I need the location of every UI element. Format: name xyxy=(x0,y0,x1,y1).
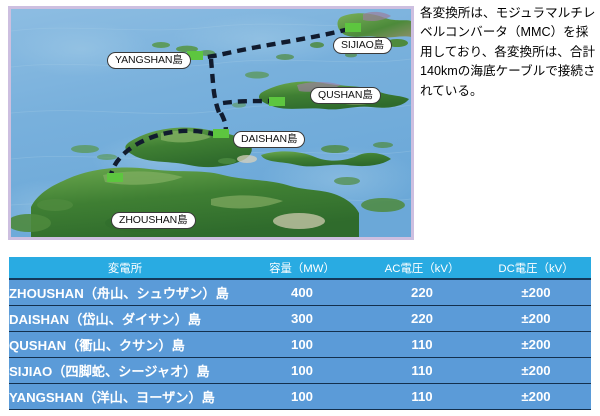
col-header-dc: DC電圧（kV） xyxy=(481,257,591,279)
cell-capacity: 300 xyxy=(241,306,363,332)
col-header-capacity: 容量（MW） xyxy=(241,257,363,279)
table-header-row: 変電所 容量（MW） AC電圧（kV） DC電圧（kV） xyxy=(9,257,591,279)
cell-station: ZHOUSHAN（舟山、シュウザン）島 xyxy=(9,279,241,306)
table-row: DAISHAN（岱山、ダイサン）島 300 220 ±200 xyxy=(9,306,591,332)
map-label-sijiao: SIJIAO島 xyxy=(333,37,392,54)
spec-table-container: 変電所 容量（MW） AC電圧（kV） DC電圧（kV） ZHOUSHAN（舟山… xyxy=(9,257,591,410)
cell-dc: ±200 xyxy=(481,279,591,306)
marker-zhoushan xyxy=(107,173,123,182)
cell-dc: ±200 xyxy=(481,306,591,332)
map-label-yangshan: YANGSHAN島 xyxy=(107,52,191,69)
marker-daishan xyxy=(213,129,229,138)
cell-dc: ±200 xyxy=(481,332,591,358)
cell-dc: ±200 xyxy=(481,384,591,410)
table-row: ZHOUSHAN（舟山、シュウザン）島 400 220 ±200 xyxy=(9,279,591,306)
cell-station: YANGSHAN（洋山、ヨーザン）島 xyxy=(9,384,241,410)
cell-ac: 110 xyxy=(363,332,481,358)
cell-ac: 220 xyxy=(363,306,481,332)
cell-station: QUSHAN（衢山、クサン）島 xyxy=(9,332,241,358)
marker-sijiao xyxy=(345,23,361,32)
map-label-zhoushan: ZHOUSHAN島 xyxy=(111,212,196,229)
table-row: SIJIAO（四脚蛇、シージャオ）島 100 110 ±200 xyxy=(9,358,591,384)
cell-ac: 110 xyxy=(363,384,481,410)
cell-capacity: 100 xyxy=(241,384,363,410)
cell-station: DAISHAN（岱山、ダイサン）島 xyxy=(9,306,241,332)
cell-capacity: 100 xyxy=(241,358,363,384)
marker-qushan xyxy=(269,97,285,106)
cell-capacity: 100 xyxy=(241,332,363,358)
cell-capacity: 400 xyxy=(241,279,363,306)
cell-dc: ±200 xyxy=(481,358,591,384)
map-label-daishan: DAISHAN島 xyxy=(233,131,305,148)
col-header-station: 変電所 xyxy=(9,257,241,279)
map-label-qushan: QUSHAN島 xyxy=(310,87,381,104)
table-row: YANGSHAN（洋山、ヨーザン）島 100 110 ±200 xyxy=(9,384,591,410)
cell-ac: 110 xyxy=(363,358,481,384)
col-header-ac: AC電圧（kV） xyxy=(363,257,481,279)
cell-station: SIJIAO（四脚蛇、シージャオ）島 xyxy=(9,358,241,384)
figure-caption: 各変換所は、モジュラマルチレベルコンバータ（MMC）を採用しており、各変換所は、… xyxy=(420,4,596,101)
map-figure: YANGSHAN島 SIJIAO島 QUSHAN島 DAISHAN島 ZHOUS… xyxy=(8,6,414,240)
cell-ac: 220 xyxy=(363,279,481,306)
converter-station-spec-table: 変電所 容量（MW） AC電圧（kV） DC電圧（kV） ZHOUSHAN（舟山… xyxy=(9,257,591,410)
table-row: QUSHAN（衢山、クサン）島 100 110 ±200 xyxy=(9,332,591,358)
